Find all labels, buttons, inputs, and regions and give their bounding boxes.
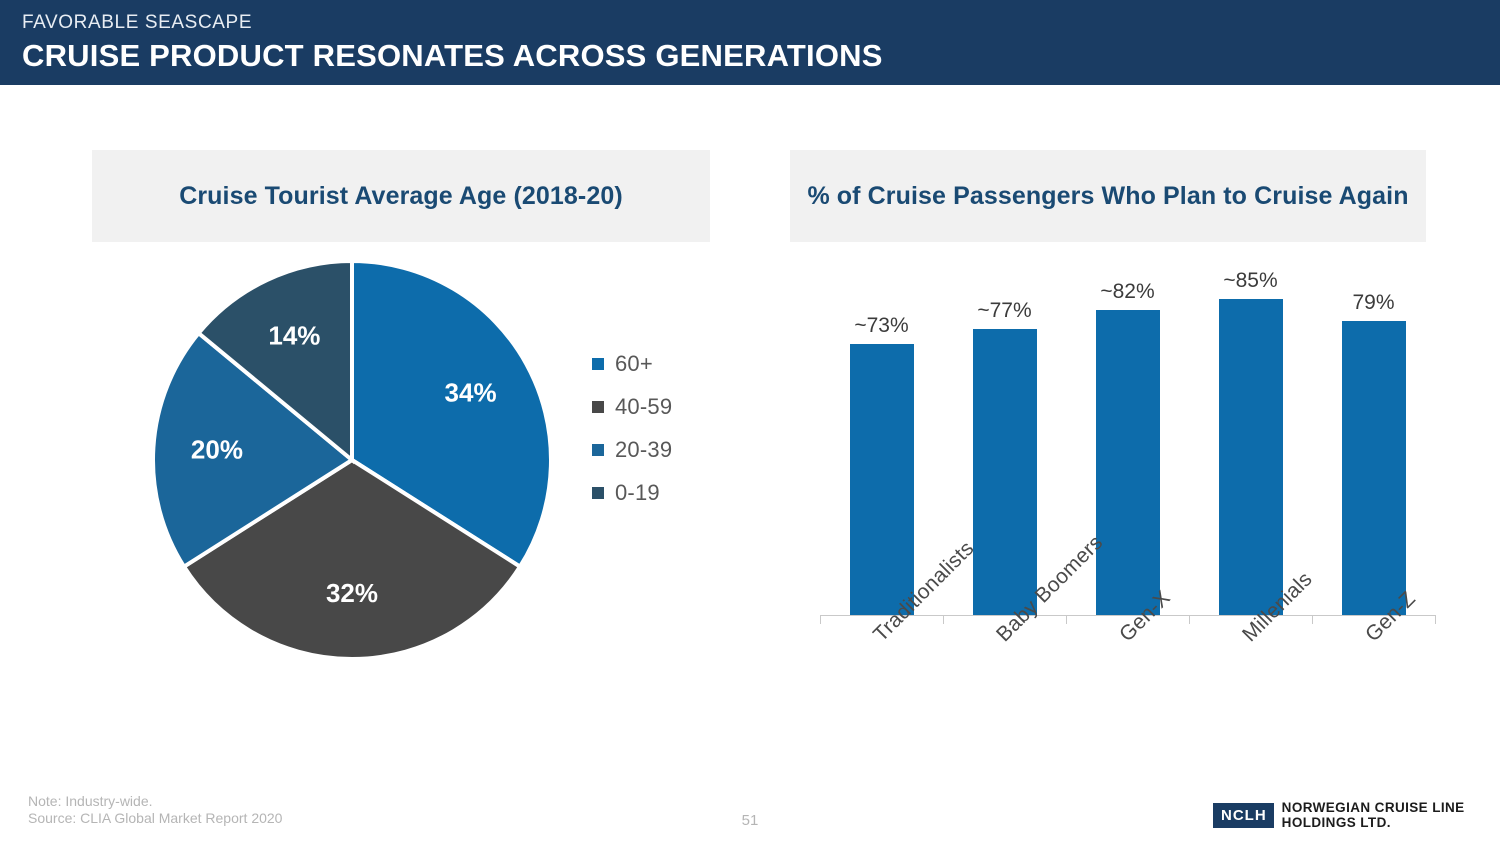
bar-value-label: ~82% bbox=[1100, 280, 1154, 304]
bar-rect[interactable] bbox=[973, 329, 1037, 615]
axis-tick bbox=[1312, 615, 1313, 624]
bar-chart: ~73%~77%~82%~85%79% TraditionalistsBaby … bbox=[790, 262, 1440, 762]
axis-tick bbox=[820, 615, 821, 624]
pie-legend-item[interactable]: 20-39 bbox=[592, 428, 722, 471]
nclh-logo-line-2: HOLDINGS LTD. bbox=[1282, 815, 1465, 830]
right-chart-title-box: % of Cruise Passengers Who Plan to Cruis… bbox=[790, 150, 1426, 242]
bar-value-label: ~77% bbox=[977, 299, 1031, 323]
pie-legend-label: 60+ bbox=[615, 351, 653, 377]
bar-rect[interactable] bbox=[1219, 299, 1283, 615]
slide-eyebrow: FAVORABLE SEASCAPE bbox=[22, 12, 252, 34]
pie-legend-label: 20-39 bbox=[615, 437, 672, 463]
pie-slice-label: 20% bbox=[191, 434, 243, 464]
bar-column: 79% bbox=[1312, 291, 1435, 615]
bar-rect[interactable] bbox=[1096, 310, 1160, 615]
left-chart-title: Cruise Tourist Average Age (2018-20) bbox=[179, 182, 623, 211]
axis-tick bbox=[1066, 615, 1067, 624]
axis-tick bbox=[943, 615, 944, 624]
pie-slice-label: 14% bbox=[268, 320, 320, 350]
bar-value-label: ~85% bbox=[1223, 269, 1277, 293]
bar-rect[interactable] bbox=[850, 344, 914, 615]
pie-legend-item[interactable]: 40-59 bbox=[592, 385, 722, 428]
pie-legend-item[interactable]: 60+ bbox=[592, 342, 722, 385]
left-chart-title-box: Cruise Tourist Average Age (2018-20) bbox=[92, 150, 710, 242]
legend-swatch-icon bbox=[592, 444, 604, 456]
nclh-logo-badge: NCLH bbox=[1213, 803, 1274, 828]
footnote-line-1: Note: Industry-wide. bbox=[28, 793, 282, 810]
pie-legend-item[interactable]: 0-19 bbox=[592, 471, 722, 514]
legend-swatch-icon bbox=[592, 401, 604, 413]
pie-legend-label: 40-59 bbox=[615, 394, 672, 420]
pie-slice-label: 34% bbox=[445, 378, 497, 408]
axis-tick bbox=[1435, 615, 1436, 624]
bar-value-label: ~73% bbox=[854, 314, 908, 338]
nclh-logo-line-1: NORWEGIAN CRUISE LINE bbox=[1282, 800, 1465, 815]
pie-chart-svg: 34%32%20%14% bbox=[150, 258, 554, 662]
bar-chart-plot-area: ~73%~77%~82%~85%79% bbox=[820, 262, 1435, 615]
bar-column: ~85% bbox=[1189, 269, 1312, 615]
legend-swatch-icon bbox=[592, 487, 604, 499]
pie-slice-label: 32% bbox=[326, 578, 378, 608]
bar-rect[interactable] bbox=[1342, 321, 1406, 615]
pie-legend-label: 0-19 bbox=[615, 480, 660, 506]
right-chart-title: % of Cruise Passengers Who Plan to Cruis… bbox=[807, 182, 1408, 211]
axis-tick bbox=[1189, 615, 1190, 624]
nclh-logo: NCLH NORWEGIAN CRUISE LINE HOLDINGS LTD. bbox=[1213, 800, 1465, 830]
nclh-logo-text: NORWEGIAN CRUISE LINE HOLDINGS LTD. bbox=[1282, 800, 1465, 830]
bar-column: ~73% bbox=[820, 314, 943, 615]
page-title: CRUISE PRODUCT RESONATES ACROSS GENERATI… bbox=[22, 38, 883, 74]
pie-legend: 60+40-5920-390-19 bbox=[592, 342, 722, 514]
legend-swatch-icon bbox=[592, 358, 604, 370]
pie-chart: 34%32%20%14% bbox=[150, 258, 554, 662]
bar-value-label: 79% bbox=[1352, 291, 1394, 315]
